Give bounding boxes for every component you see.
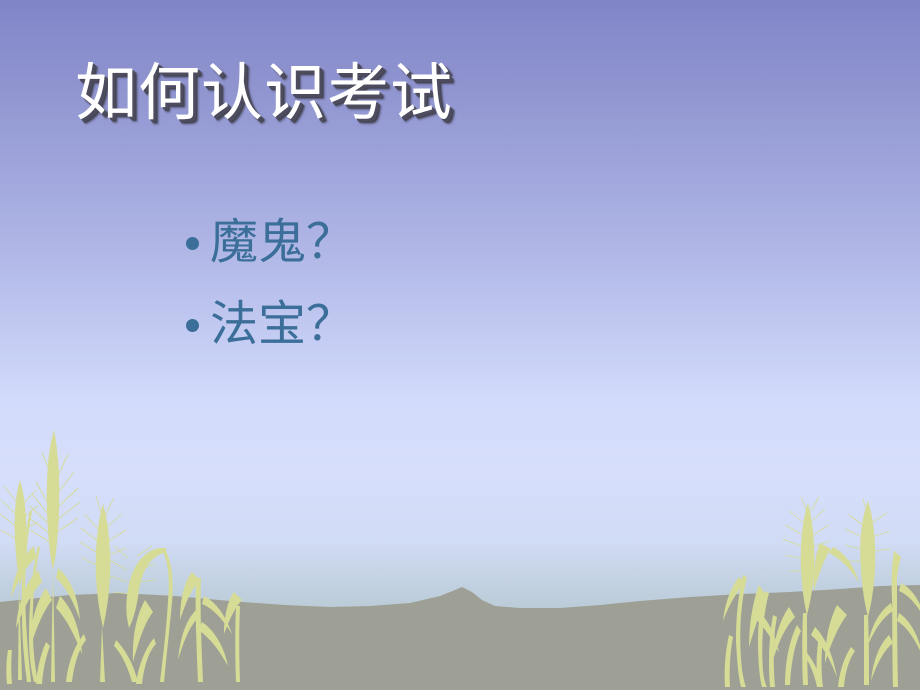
wheat-grass-left xyxy=(0,420,246,690)
list-item-label: 魔鬼？ xyxy=(210,219,354,267)
bullet-list: 魔鬼？ 法宝？ xyxy=(186,202,606,366)
list-item: 魔鬼？ xyxy=(186,202,606,284)
bullet-dot-icon xyxy=(186,237,199,250)
presentation-slide: 如何认识考试 魔鬼？ 法宝？ xyxy=(0,0,920,690)
page-title: 如何认识考试 xyxy=(75,62,453,127)
list-item: 法宝？ xyxy=(186,284,606,366)
bullet-dot-icon xyxy=(186,319,199,332)
wheat-grass-right xyxy=(711,495,920,690)
list-item-label: 法宝？ xyxy=(210,301,354,349)
